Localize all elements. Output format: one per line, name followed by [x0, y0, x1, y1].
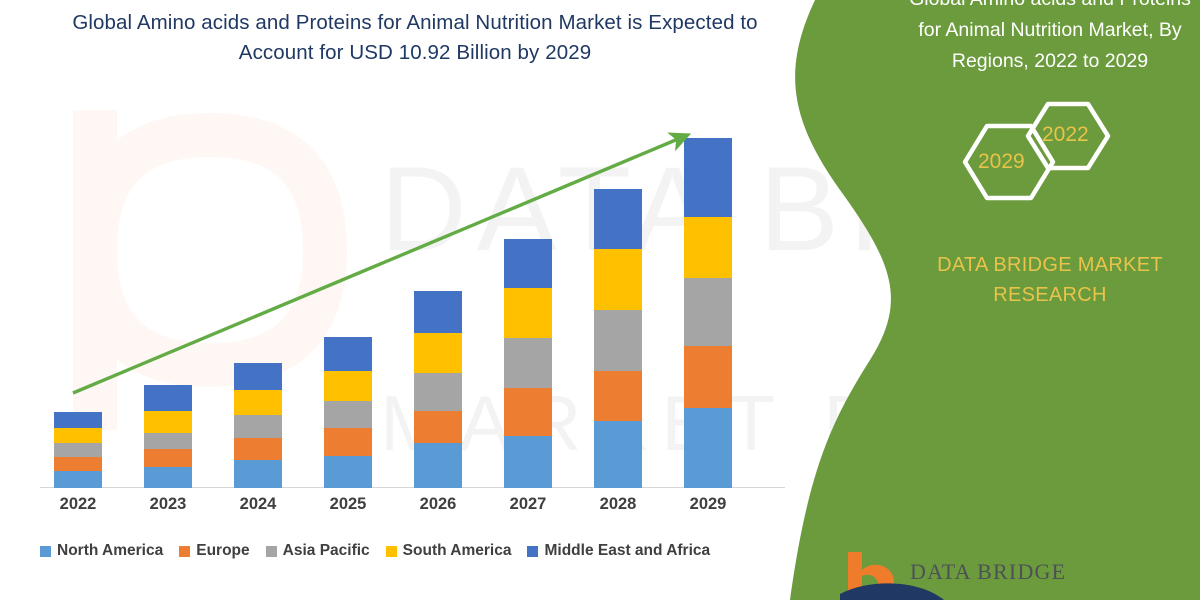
legend-item-north-america[interactable]: North America	[40, 542, 163, 560]
bar-2023	[144, 385, 192, 488]
green-panel-content: Global Amino acids and Proteins for Anim…	[900, 0, 1200, 600]
x-axis-label-2022: 2022	[33, 495, 123, 514]
hexagon-right-label: 2022	[1042, 123, 1089, 147]
x-axis-label-2024: 2024	[213, 495, 303, 514]
page-title: Global Amino acids and Proteins for Anim…	[60, 8, 770, 68]
bar-segment	[414, 373, 462, 411]
bar-segment	[234, 363, 282, 390]
chart-legend: North AmericaEuropeAsia PacificSouth Ame…	[40, 539, 790, 563]
panel-title: Global Amino acids and Proteins for Anim…	[900, 0, 1200, 77]
bar-segment	[414, 333, 462, 373]
bar-segment	[684, 278, 732, 346]
bar-segment	[504, 436, 552, 488]
bar-segment	[234, 390, 282, 415]
bar-segment	[144, 433, 192, 449]
x-axis-label-2029: 2029	[663, 495, 753, 514]
bar-2028	[594, 189, 642, 488]
bar-segment	[54, 428, 102, 443]
x-axis-labels: 20222023202420252026202720282029	[40, 495, 790, 521]
bar-2026	[414, 291, 462, 488]
legend-swatch	[266, 546, 277, 557]
bar-segment	[324, 337, 372, 371]
legend-item-asia-pacific[interactable]: Asia Pacific	[266, 542, 370, 560]
bar-segment	[504, 388, 552, 436]
bar-segment	[234, 415, 282, 438]
bar-segment	[144, 411, 192, 433]
legend-swatch	[40, 546, 51, 557]
bar-segment	[684, 217, 732, 278]
bar-2025	[324, 337, 372, 488]
legend-label: Europe	[196, 542, 249, 560]
legend-swatch	[179, 546, 190, 557]
bar-segment	[144, 385, 192, 411]
stacked-bar-group	[40, 100, 790, 488]
data-bridge-logo: DATA BRIDGE	[840, 550, 1100, 600]
legend-swatch	[527, 546, 538, 557]
bar-segment	[54, 457, 102, 471]
bar-segment	[234, 460, 282, 488]
bar-segment	[324, 456, 372, 488]
x-axis-label-2026: 2026	[393, 495, 483, 514]
bar-segment	[504, 288, 552, 338]
x-axis-label-2025: 2025	[303, 495, 393, 514]
bar-segment	[594, 249, 642, 310]
x-axis-label-2027: 2027	[483, 495, 573, 514]
hexagon-left-label: 2029	[978, 150, 1025, 174]
bar-segment	[594, 189, 642, 250]
bar-segment	[684, 138, 732, 217]
bar-segment	[504, 239, 552, 288]
hexagon-group: 2029 2022	[920, 100, 1180, 230]
brand-line-1: DATA BRIDGE MARKET	[900, 250, 1200, 280]
chart-panel: Global Amino acids and Proteins for Anim…	[0, 0, 830, 600]
bar-segment	[594, 371, 642, 421]
legend-label: Middle East and Africa	[544, 542, 710, 560]
bar-2029	[684, 138, 732, 488]
bar-segment	[324, 428, 372, 456]
bar-segment	[414, 443, 462, 488]
bar-segment	[54, 412, 102, 428]
bar-segment	[144, 467, 192, 488]
bar-segment	[414, 411, 462, 443]
x-axis-label-2028: 2028	[573, 495, 663, 514]
infographic-canvas: DATA BRIDGE MARKET RESEARCH Global Amino…	[0, 0, 1200, 600]
bar-segment	[504, 338, 552, 388]
legend-label: South America	[403, 542, 512, 560]
bar-segment	[234, 438, 282, 460]
hexagon-svg	[920, 100, 1180, 230]
bar-2024	[234, 363, 282, 488]
bar-segment	[414, 291, 462, 333]
bar-segment	[324, 371, 372, 401]
bar-segment	[684, 346, 732, 408]
brand-line-2: RESEARCH	[900, 280, 1200, 310]
bar-segment	[144, 449, 192, 467]
legend-item-europe[interactable]: Europe	[179, 542, 249, 560]
bar-2022	[54, 412, 102, 488]
logo-text: DATA BRIDGE	[910, 559, 1066, 585]
bar-segment	[324, 401, 372, 428]
legend-item-middle-east-and-africa[interactable]: Middle East and Africa	[527, 542, 710, 560]
bar-segment	[594, 421, 642, 488]
bar-segment	[594, 310, 642, 371]
legend-label: Asia Pacific	[283, 542, 370, 560]
legend-item-south-america[interactable]: South America	[386, 542, 512, 560]
bar-segment	[54, 471, 102, 488]
x-axis-label-2023: 2023	[123, 495, 213, 514]
brand-name: DATA BRIDGE MARKET RESEARCH	[900, 250, 1200, 310]
legend-swatch	[386, 546, 397, 557]
legend-label: North America	[57, 542, 163, 560]
bar-2027	[504, 239, 552, 488]
bar-segment	[684, 408, 732, 488]
bar-segment	[54, 443, 102, 457]
